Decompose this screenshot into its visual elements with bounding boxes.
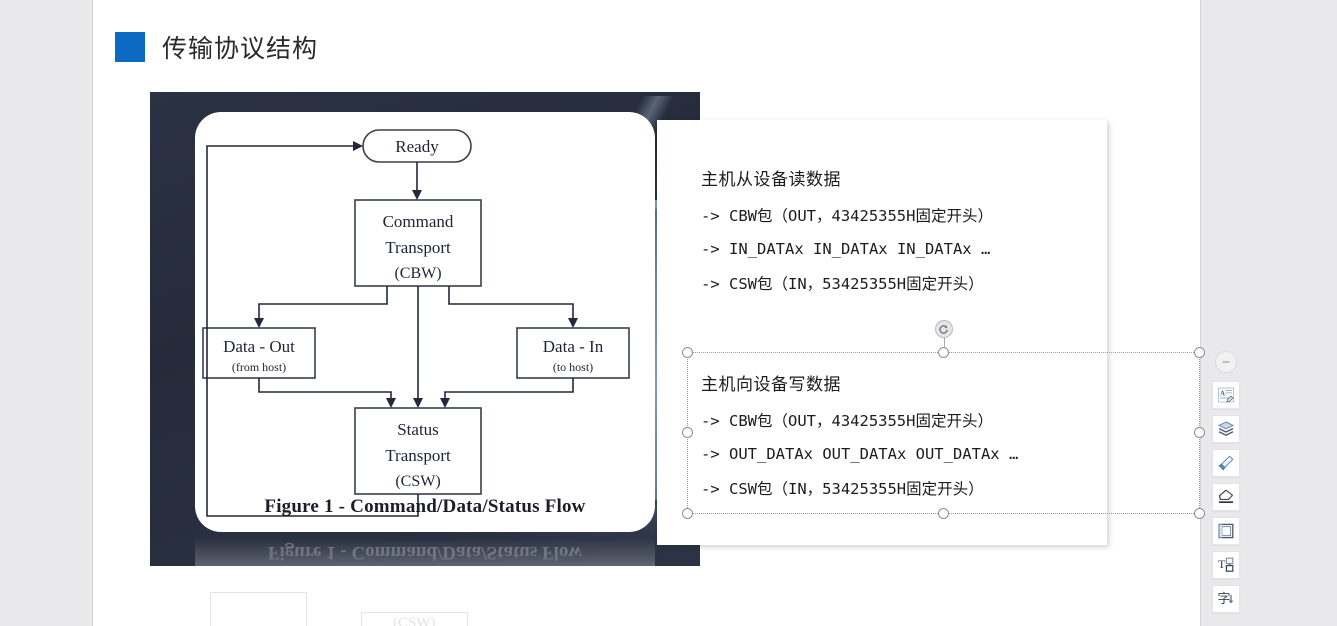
arrowhead-ready-command [412,190,422,200]
ghost-shape-label: (CSW) [393,615,436,626]
read-data-textbox[interactable]: 主机从设备读数据 -> CBW包（OUT，43425355H固定开头） -> I… [701,165,993,308]
resize-handle-bottom-right[interactable] [1194,508,1205,519]
text-edit-icon: A [1217,386,1235,404]
node-command-line1: Command [383,212,454,231]
resize-handle-top-right[interactable] [1194,347,1205,358]
layers-icon [1217,420,1235,438]
frame-icon-button[interactable] [1212,517,1240,545]
arrowhead-command-status [413,398,423,408]
text-edit-icon-button[interactable]: A [1212,381,1240,409]
brush-icon-button[interactable] [1212,449,1240,477]
node-data-out-label: Data - Out [223,337,295,356]
collapse-toolbar-button[interactable] [1215,351,1237,373]
arrowhead-command-dataout [254,318,264,328]
resize-handle-bottom-middle[interactable] [938,508,949,519]
read-block-line-3: -> CSW包（IN，53425355H固定开头） [701,272,993,294]
node-data-in-label: Data - In [543,337,604,356]
node-command-line3: (CBW) [394,265,441,282]
font-icon: 字 [1217,590,1235,608]
slide-canvas[interactable]: 传输协议结构 Ready Command [93,0,1200,626]
node-status-line3: (CSW) [395,473,440,490]
read-block-line-1: -> CBW包（OUT，43425355H固定开头） [701,204,993,226]
eraser-icon-button[interactable] [1212,483,1240,511]
presentation-editor: 传输协议结构 Ready Command [0,0,1337,626]
font-icon-button[interactable]: 字 [1212,585,1240,613]
node-command-line2: Transport [385,238,451,257]
floating-toolbar: A [1212,351,1240,619]
command-data-status-flow-diagram: Ready Command Transport (CBW) [195,112,655,532]
figure-card: Ready Command Transport (CBW) [195,112,655,532]
selection-frame[interactable] [687,352,1200,514]
brush-icon [1217,454,1235,472]
arrowhead-status-ready [353,141,363,151]
resize-handle-middle-left[interactable] [682,427,693,438]
layers-icon-button[interactable] [1212,415,1240,443]
read-block-line-2: -> IN_DATAx IN_DATAx IN_DATAx … [701,240,993,258]
figure-reflection: Figure 1 - Command/Data/Status Flow [195,538,655,566]
textbox-icon-button[interactable]: T [1212,551,1240,579]
svg-text:字: 字 [1218,592,1231,607]
resize-handle-middle-right[interactable] [1194,427,1205,438]
minus-icon [1221,357,1231,367]
ghost-shape-left [210,592,307,626]
edge-dataout-to-status [259,378,391,400]
resize-handle-bottom-left[interactable] [682,508,693,519]
rotate-handle[interactable] [935,320,953,338]
resize-handle-top-middle[interactable] [938,347,949,358]
node-data-in-sublabel: (to host) [553,360,593,374]
arrowhead-datain-status [440,398,450,408]
diagram-image[interactable]: Ready Command Transport (CBW) [150,92,700,566]
rotate-icon [938,324,949,335]
resize-handle-top-left[interactable] [682,347,693,358]
node-status-line2: Transport [385,446,451,465]
svg-text:T: T [1218,557,1226,571]
title-bullet-square [115,32,145,62]
node-data-out-sublabel: (from host) [232,360,286,374]
eraser-icon [1217,488,1235,506]
arrowhead-command-datain [568,318,578,328]
figure-caption: Figure 1 - Command/Data/Status Flow [195,496,655,518]
arrowhead-dataout-status [386,398,396,408]
edge-datain-to-status [445,378,573,400]
node-status-line1: Status [397,420,439,439]
svg-text:A: A [1220,390,1225,398]
node-ready-label: Ready [395,137,439,156]
figure-reflection-text: Figure 1 - Command/Data/Status Flow [195,538,655,566]
page-title: 传输协议结构 [162,29,318,65]
slide-title[interactable]: 传输协议结构 [115,29,318,65]
edge-command-to-datain [449,286,573,320]
read-block-heading: 主机从设备读数据 [701,165,993,190]
frame-icon [1217,522,1235,540]
edge-command-to-dataout [259,286,387,320]
textbox-icon: T [1217,556,1235,574]
